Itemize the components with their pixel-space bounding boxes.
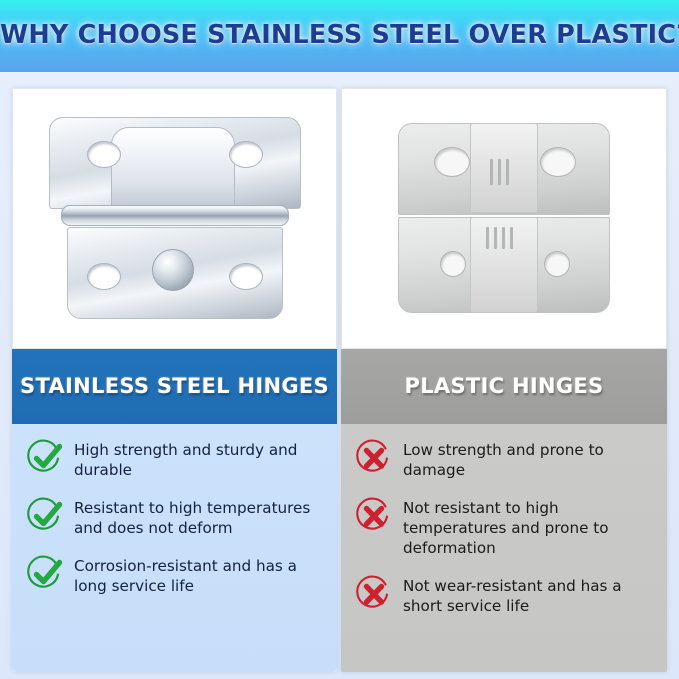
list-item-label: Not wear-resistant and has a short servi… (403, 574, 655, 616)
plastic-knuckle-rib (486, 227, 489, 249)
plastic-hinge-knuckle-top (470, 123, 538, 213)
green-check-circle-icon (26, 439, 64, 477)
hinge-screw-hole-bottom-right (229, 263, 263, 290)
red-cross-circle-icon (355, 439, 393, 477)
list-item: Not wear-resistant and has a short servi… (355, 574, 655, 616)
plastic-knuckle-rib (510, 227, 513, 249)
hinge-ball-detent (152, 249, 194, 291)
list-item-label: Low strength and prone to damage (403, 438, 655, 480)
plastic-screw-hole-bottom-left (440, 251, 466, 277)
hinge-screw-hole-top-left (87, 141, 121, 168)
comparison-panel-stainless-steel: STAINLESS STEEL HINGES High strength and… (12, 88, 337, 672)
hinge-screw-hole-bottom-left (87, 263, 121, 290)
list-item-label: High strength and sturdy and durable (74, 438, 325, 480)
list-item-label: Resistant to high temperatures and does … (74, 496, 325, 538)
plastic-screw-hole-top-right (540, 147, 576, 177)
header-banner: WHY CHOOSE STAINLESS STEEL OVER PLASTIC? (0, 0, 679, 72)
stainless-steel-hinge-illustration (41, 113, 309, 325)
stainless-steel-label-band: STAINLESS STEEL HINGES (12, 349, 337, 424)
list-item-label: Corrosion-resistant and has a long servi… (74, 554, 325, 596)
plastic-hinge-photo (341, 88, 667, 349)
stainless-steel-benefits-list: High strength and sturdy and durable Res… (12, 424, 337, 672)
plastic-knuckle-rib (506, 159, 509, 185)
plastic-knuckle-rib (498, 159, 501, 185)
hinge-screw-hole-top-right (229, 141, 263, 168)
infographic-page: WHY CHOOSE STAINLESS STEEL OVER PLASTIC? (0, 0, 679, 679)
red-cross-circle-icon (355, 575, 393, 613)
list-item: Corrosion-resistant and has a long servi… (26, 554, 325, 596)
plastic-knuckle-rib (494, 227, 497, 249)
stainless-steel-hinge-photo (12, 88, 337, 349)
plastic-label: PLASTIC HINGES (405, 374, 604, 399)
plastic-knuckle-rib (502, 227, 505, 249)
red-cross-circle-icon (355, 497, 393, 535)
plastic-drawbacks-list: Low strength and prone to damage Not res… (341, 424, 667, 672)
page-title: WHY CHOOSE STAINLESS STEEL OVER PLASTIC? (0, 20, 679, 50)
hinge-pin-barrel (61, 205, 289, 226)
list-item: Resistant to high temperatures and does … (26, 496, 325, 538)
list-item: Low strength and prone to damage (355, 438, 655, 480)
comparison-panel-plastic: PLASTIC HINGES Low strength and prone to… (341, 88, 667, 672)
green-check-circle-icon (26, 555, 64, 593)
list-item: Not resistant to high temperatures and p… (355, 496, 655, 558)
list-item: High strength and sturdy and durable (26, 438, 325, 480)
plastic-hinge-illustration (398, 121, 610, 317)
hinge-top-raised-form (111, 127, 235, 207)
plastic-screw-hole-top-left (434, 147, 470, 177)
plastic-knuckle-rib (490, 159, 493, 185)
green-check-circle-icon (26, 497, 64, 535)
plastic-label-band: PLASTIC HINGES (341, 349, 667, 424)
list-item-label: Not resistant to high temperatures and p… (403, 496, 655, 558)
stainless-steel-label: STAINLESS STEEL HINGES (20, 374, 329, 399)
plastic-screw-hole-bottom-right (544, 251, 570, 277)
